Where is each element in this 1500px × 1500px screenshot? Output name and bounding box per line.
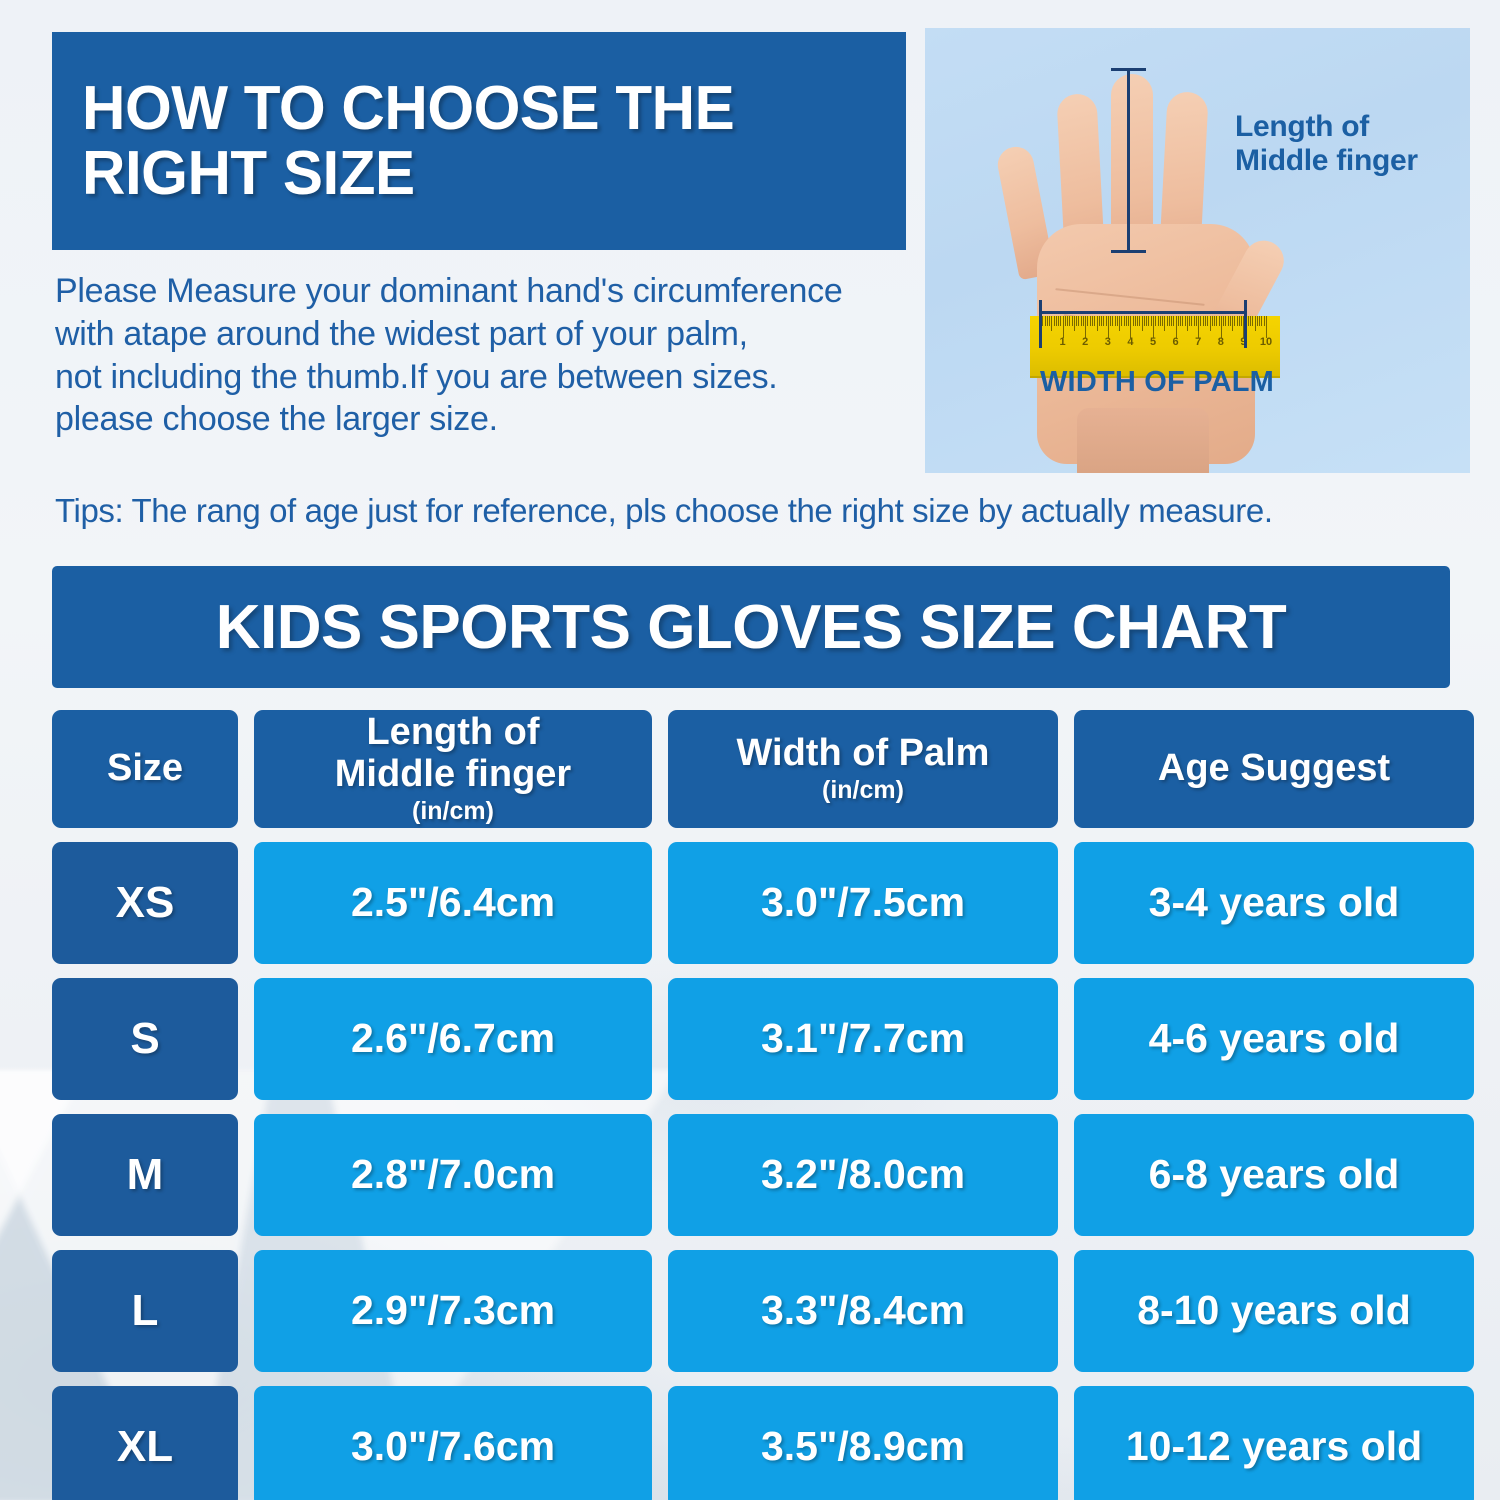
ruler-number: 2 [1082,336,1088,348]
ruler-number: 1 [1060,336,1066,348]
ruler-ticks [1030,316,1280,338]
column-header-length-of-middle-finger: Length ofMiddle finger(in/cm) [254,710,652,828]
size-chart-banner: KIDS SPORTS GLOVES SIZE CHART [52,566,1450,688]
palm-width-cell: 3.3"/8.4cm [668,1250,1058,1372]
width-measure-cap-left [1039,300,1042,348]
age-suggest-cell: 4-6 years old [1074,978,1474,1100]
middle-finger-length-cell: 2.5"/6.4cm [254,842,652,964]
ruler-number: 10 [1260,336,1272,348]
hand-photo: 12345678910 [925,28,1470,473]
length-label-line2: Middle finger [1235,144,1418,177]
column-header-unit: (in/cm) [412,798,494,826]
age-suggest-cell: 8-10 years old [1074,1250,1474,1372]
how-to-choose-banner: HOW TO CHOOSE THE RIGHT SIZE [52,32,906,250]
column-header-text: Width of Palm [737,733,990,775]
size-label-cell: XS [52,842,238,964]
table-row: XS2.5"/6.4cm3.0"/7.5cm3-4 years old [52,842,1450,964]
hand-measurement-illustration: 12345678910 Length of Middle finger WIDT… [925,28,1470,473]
size-guide-page: HOW TO CHOOSE THE RIGHT SIZE Please Meas… [0,0,1500,1500]
size-label-cell: M [52,1114,238,1236]
middle-finger-length-cell: 3.0"/7.6cm [254,1386,652,1500]
column-header-age-suggest: Age Suggest [1074,710,1474,828]
palm-width-cell: 3.2"/8.0cm [668,1114,1058,1236]
ruler-number: 7 [1195,336,1201,348]
column-header-size: Size [52,710,238,828]
table-row: S2.6"/6.7cm3.1"/7.7cm4-6 years old [52,978,1450,1100]
size-label-cell: XL [52,1386,238,1500]
middle-finger-length-cell: 2.8"/7.0cm [254,1114,652,1236]
measure-instructions: Please Measure your dominant hand's circ… [55,270,925,441]
age-suggest-cell: 6-8 years old [1074,1114,1474,1236]
length-measure-line [1127,68,1130,253]
instruction-line-4: please choose the larger size. [55,398,925,441]
instruction-line-3: not including the thumb.If you are betwe… [55,356,925,399]
instruction-line-2: with atape around the widest part of you… [55,313,925,356]
column-header-text: Size [107,748,183,790]
ruler-numbers: 12345678910 [1030,336,1280,356]
palm-width-cell: 3.1"/7.7cm [668,978,1058,1100]
ruler-number: 8 [1218,336,1224,348]
instruction-line-1: Please Measure your dominant hand's circ… [55,270,925,313]
width-measure-line [1039,311,1247,314]
page-title-line2: RIGHT SIZE [82,139,415,208]
column-header-unit: (in/cm) [822,777,904,805]
column-header-text: Age Suggest [1158,748,1390,790]
tips-note: Tips: The rang of age just for reference… [55,492,1455,530]
page-title-line1: HOW TO CHOOSE THE [82,74,734,143]
age-suggest-cell: 10-12 years old [1074,1386,1474,1500]
wrist [1077,408,1209,473]
ruler-number: 5 [1150,336,1156,348]
palm-width-cell: 3.0"/7.5cm [668,842,1058,964]
ruler-number: 3 [1105,336,1111,348]
table-row: M2.8"/7.0cm3.2"/8.0cm6-8 years old [52,1114,1450,1236]
column-header-text: Length of [366,712,539,754]
column-header-width-of-palm: Width of Palm(in/cm) [668,710,1058,828]
table-header-row: SizeLength ofMiddle finger(in/cm)Width o… [52,710,1450,828]
width-of-palm-label: WIDTH OF PALM [1007,366,1307,399]
length-of-middle-finger-label: Length of Middle finger [1235,110,1465,177]
size-chart-title: KIDS SPORTS GLOVES SIZE CHART [216,592,1287,663]
size-label-cell: L [52,1250,238,1372]
ruler-number: 4 [1127,336,1133,348]
palm-width-cell: 3.5"/8.9cm [668,1386,1058,1500]
length-label-line1: Length of [1235,110,1369,143]
column-header-text: Middle finger [335,754,571,796]
size-label-cell: S [52,978,238,1100]
length-measure-cap-bottom [1111,250,1146,253]
middle-finger-length-cell: 2.9"/7.3cm [254,1250,652,1372]
table-row: XL3.0"/7.6cm3.5"/8.9cm10-12 years old [52,1386,1450,1500]
age-suggest-cell: 3-4 years old [1074,842,1474,964]
table-row: L2.9"/7.3cm3.3"/8.4cm8-10 years old [52,1250,1450,1372]
middle-finger-length-cell: 2.6"/6.7cm [254,978,652,1100]
width-measure-cap-right [1244,300,1247,348]
ruler-number: 6 [1173,336,1179,348]
page-title: HOW TO CHOOSE THE RIGHT SIZE [82,76,881,206]
size-chart-table: SizeLength ofMiddle finger(in/cm)Width o… [52,710,1450,1500]
